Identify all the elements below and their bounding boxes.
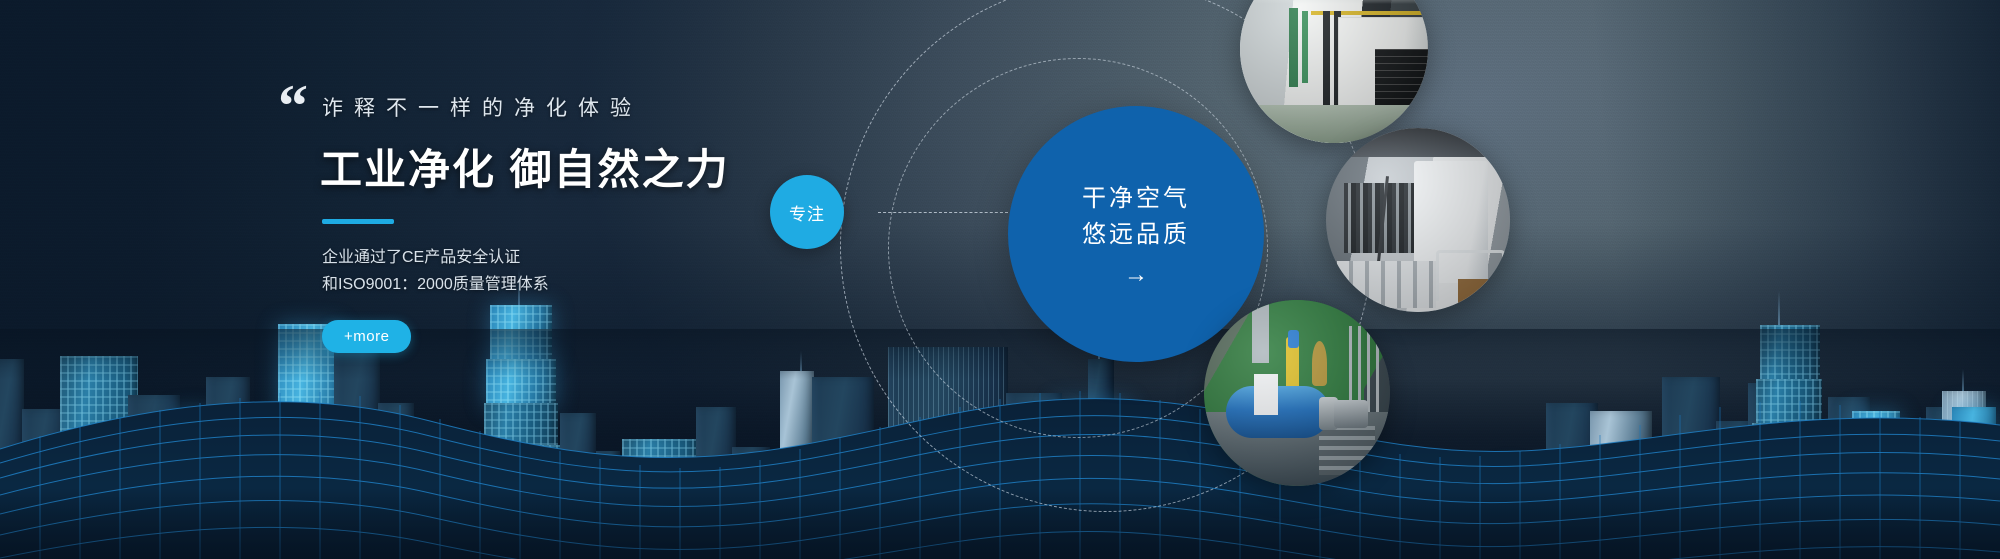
arrow-right-icon: → [1124, 263, 1148, 287]
quote-mark-icon: “ [278, 76, 306, 136]
main-circle-line-1: 干净空气 [1082, 181, 1190, 217]
accent-divider [322, 219, 394, 224]
dashed-connector-line [878, 212, 1008, 213]
hero-banner: “ 诈释不一样的净化体验 工业净化 御自然之力 企业通过了CE产品安全认证 和I… [0, 0, 2000, 559]
photo-circle-production-line[interactable] [1326, 128, 1510, 312]
photo-circle-factory-hall[interactable] [1240, 0, 1428, 143]
main-circle-line-2: 悠远品质 [1082, 217, 1190, 253]
hero-graphic: 专注 干净空气 悠远品质 → [760, 0, 1560, 559]
photo-circle-pipeline[interactable] [1204, 300, 1390, 486]
focus-bubble[interactable]: 专注 [770, 175, 844, 249]
focus-bubble-label: 专注 [789, 200, 825, 225]
more-button[interactable]: +more [322, 320, 411, 353]
